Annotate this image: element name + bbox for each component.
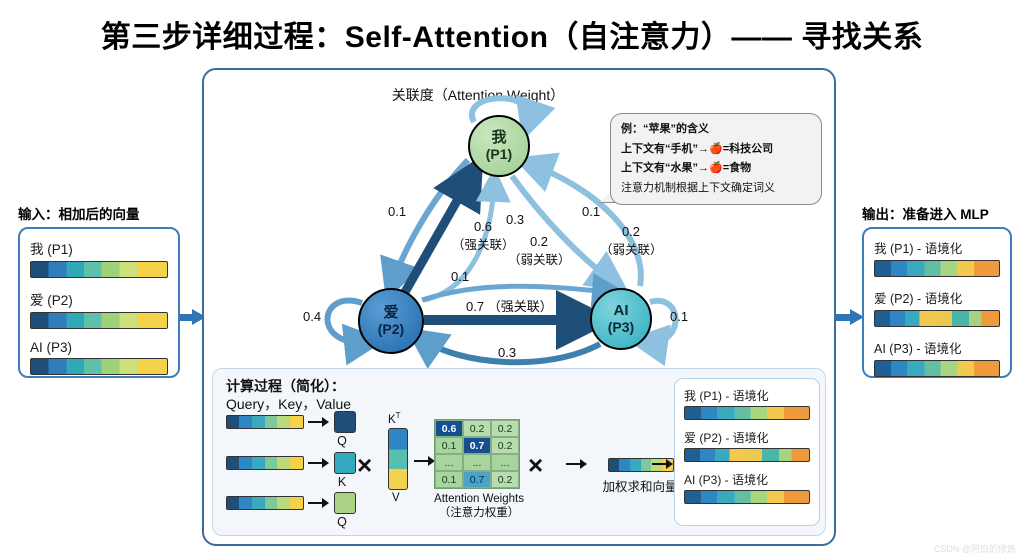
input-vector-label-p2: 爱 (P2) [30,289,168,309]
edge-label-p2-p1-strong: 0.6 （强关联） [452,219,514,253]
qkv-tag-1: Q [330,434,354,448]
matrix-cell: 0.1 [435,437,463,454]
context-vector-bar-p2 [684,448,810,462]
multiply-symbol-1: × [357,450,372,481]
input-vector-label-p3: AI (P3) [30,340,168,355]
node-p3-pos: (P3) [608,320,634,335]
matrix-cell: 0.2 [463,420,491,437]
watermark: CSDN @阿白的修炼 [934,542,1016,555]
matrix-cell: 0.2 [491,437,519,454]
arrow-icon-5 [566,458,588,470]
output-vector-bar-p1 [874,260,1000,277]
matrix-cell: 0.6 [435,420,463,437]
matrix-cell: ... [491,454,519,471]
multiply-symbol-2: × [528,450,543,481]
edge-label-p1-p3-weak: 0.2 （弱关联） [600,224,662,258]
context-vector-bar-p3 [684,490,810,504]
page-title: 第三步详细过程：Self-Attention（自注意力）—— 寻找关系 [0,12,1024,56]
matrix-cell: 0.1 [435,471,463,488]
qkv-input-bar-3 [226,496,304,510]
callout-line-1: 例：“苹果”的含义 [621,120,813,136]
graph-node-p2[interactable]: 爱 (P2) [358,288,424,354]
matrix-cell: 0.2 [491,471,519,488]
matrix-caption-cn: （注意力权重） [439,507,520,519]
output-flow-arrow [836,310,864,324]
graph-node-p3[interactable]: AI (P3) [590,288,652,350]
output-vector-bar-p3 [874,360,1000,377]
callout-line-3: 上下文有“水果”→🍎=食物 [621,159,813,175]
qkv-square-q1 [334,411,356,433]
arrow-icon-2 [308,457,330,469]
output-panel: 我 (P1) - 语境化 爱 (P2) - 语境化 AI (P3) - 语境化 [862,227,1012,378]
node-p2-word: 爱 [383,305,398,321]
qkv-row-1 [226,411,356,433]
context-vector-label-p2: 爱 (P2) - 语境化 [684,429,810,446]
v-label: V [392,492,400,504]
input-vector-bar-p2 [30,312,168,329]
qkv-input-bar-1 [226,415,304,429]
output-panel-label: 输出：准备进入 MLP [862,203,989,223]
graph-node-p1[interactable]: 我 (P1) [468,115,530,177]
apple-example-callout: 例：“苹果”的含义 上下文有“手机”→🍎=科技公司 上下文有“水果”→🍎=食物 … [610,113,822,205]
context-vector-label-p3: AI (P3) - 语境化 [684,471,810,488]
edge-label-p2-p3-strong: 0.7 （强关联） [466,296,553,315]
output-vector-bar-p2 [874,310,1000,327]
qkv-square-q2 [334,492,356,514]
edge-label-p3-p1: 0.1 [582,204,600,219]
qkv-tag-3: Q [330,515,354,529]
diagram-canvas: 第三步详细过程：Self-Attention（自注意力）—— 寻找关系 输入：相… [0,0,1024,559]
input-vector-bar-p3 [30,358,168,375]
arrow-icon-3 [308,497,330,509]
qkv-row-2 [226,452,356,474]
edge-label-p2-p3-low: 0.1 [451,269,469,284]
callout-line-4: 注意力机制根据上下文确定词义 [621,179,813,195]
input-panel-label: 输入：相加后的向量 [18,203,140,223]
k-transpose-label: KT [388,411,401,426]
input-panel: 我 (P1) 爱 (P2) AI (P3) [18,227,180,378]
node-p3-word: AI [614,303,629,319]
edge-label-p1-p3-mid: 0.3 [506,212,524,227]
context-vectors-box: 我 (P1) - 语境化 爱 (P2) - 语境化 AI (P3) - 语境化 [674,378,820,526]
arrow-icon-6 [652,458,674,470]
edge-label-p3-p2: 0.3 [498,345,516,360]
qkv-row-3 [226,492,356,514]
matrix-caption: Attention Weights （注意力权重） [434,492,524,521]
apple-icon: 🍎 [709,143,723,155]
node-p1-word: 我 [491,130,506,146]
input-vector-label-p1: 我 (P1) [30,238,168,258]
edge-label-p1-p2-weak2: 0.2 （弱关联） [508,234,570,268]
arrow-icon-4 [414,455,436,467]
callout-line-2: 上下文有“手机”→🍎=科技公司 [621,140,813,156]
matrix-cell: 0.7 [463,471,491,488]
graph-title: 关联度（Attention Weight） [392,85,564,105]
edge-label-self-p3: 0.1 [670,309,688,324]
qkv-square-k [334,452,356,474]
output-vector-label-p2: 爱 (P2) - 语境化 [874,288,1000,307]
matrix-cell: 0.7 [463,437,491,454]
apple-icon-2: 🍎 [709,162,723,174]
node-p2-pos: (P2) [378,322,404,337]
attention-weights-matrix: 0.6 0.2 0.2 0.1 0.7 0.2 ... ... ... 0.1 … [434,419,520,489]
input-vector-bar-p1 [30,261,168,278]
matrix-cell: ... [435,454,463,471]
context-vector-bar-p1 [684,406,810,420]
arrow-icon-1 [308,416,330,428]
matrix-cell: 0.2 [491,420,519,437]
edge-label-p2-p1-weak: 0.1 [388,204,406,219]
kv-column [388,428,408,490]
node-p1-pos: (P1) [486,147,512,162]
qkv-input-bar-2 [226,456,304,470]
output-vector-label-p3: AI (P3) - 语境化 [874,338,1000,357]
output-vector-label-p1: 我 (P1) - 语境化 [874,238,1000,257]
compute-title: 计算过程（简化）： [226,376,345,396]
context-vector-label-p1: 我 (P1) - 语境化 [684,387,810,404]
matrix-caption-en: Attention Weights [434,493,524,505]
qkv-tag-2: K [330,475,354,489]
matrix-cell: ... [463,454,491,471]
edge-label-self-p2: 0.4 [303,309,321,324]
